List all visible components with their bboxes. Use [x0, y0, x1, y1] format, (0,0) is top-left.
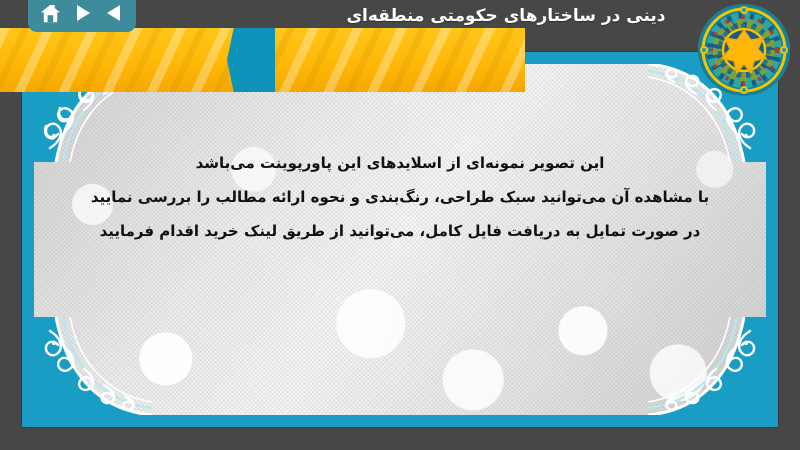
forward-arrow-icon	[74, 4, 91, 22]
slide-frame: این تصویر نمونه‌ای از اسلایدهای این پاور…	[22, 52, 778, 427]
persian-corner-ornament-bottom-right	[648, 317, 766, 415]
home-button[interactable]	[37, 1, 63, 25]
forward-button[interactable]	[69, 1, 95, 25]
navigation-bar	[28, 0, 136, 32]
slide-body-text: این تصویر نمونه‌ای از اسلایدهای این پاور…	[52, 146, 748, 248]
slide-canvas: این تصویر نمونه‌ای از اسلایدهای این پاور…	[34, 64, 766, 415]
body-line-1: این تصویر نمونه‌ای از اسلایدهای این پاور…	[52, 146, 748, 180]
body-line-2: با مشاهده آن می‌توانید سبک طراحی، رنگ‌بن…	[52, 180, 748, 214]
body-line-3: در صورت تمایل به دریافت فایل کامل، می‌تو…	[52, 214, 748, 248]
page-title-container: کامل بررسی زمینه‌های تعامل مذهبی میان جو…	[300, 0, 712, 30]
home-icon	[40, 4, 61, 23]
persian-corner-ornament-bottom-left	[34, 317, 152, 415]
slide-viewer-window: این تصویر نمونه‌ای از اسلایدهای این پاور…	[0, 0, 800, 450]
back-arrow-icon	[106, 4, 123, 22]
back-button[interactable]	[101, 1, 127, 25]
page-title: کامل بررسی زمینه‌های تعامل مذهبی میان جو…	[300, 0, 712, 30]
